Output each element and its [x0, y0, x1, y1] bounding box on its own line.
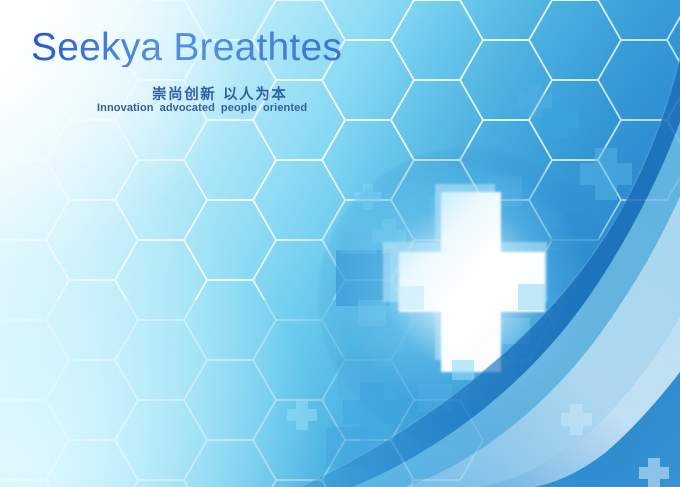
tagline-english-word: advocated: [160, 102, 215, 114]
tagline-english: Innovationadvocatedpeopleoriented: [97, 102, 313, 114]
plus-cross-icon: [639, 458, 669, 487]
plus-cross-icon: [541, 101, 579, 139]
center-cross-glow: [318, 148, 618, 448]
tagline-english-word: Innovation: [97, 102, 154, 114]
page-title: Seekya Breathtes: [31, 28, 342, 67]
poster-canvas: Seekya Breathtes 崇尚创新 以人为本 Innovationadv…: [0, 0, 680, 487]
plus-cross-icon: [518, 84, 552, 118]
tagline-english-word: people: [221, 102, 257, 114]
plus-cross-icon: [580, 148, 632, 200]
tagline-chinese: 崇尚创新 以人为本: [152, 83, 287, 104]
plus-cross-icon: [287, 400, 317, 430]
tagline-english-word: oriented: [263, 102, 307, 114]
